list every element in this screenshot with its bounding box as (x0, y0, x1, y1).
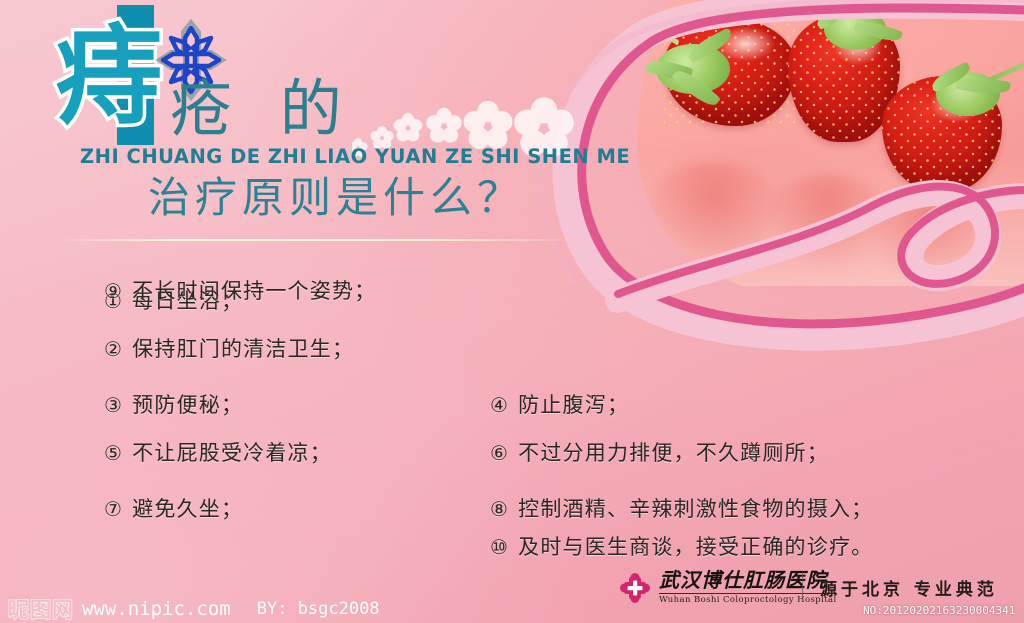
list-item-number: ③ (104, 393, 123, 417)
page-subtitle: 治疗原则是什么？ (148, 172, 524, 224)
list-item-number: ⑥ (490, 441, 509, 465)
strawberry-reflection (862, 190, 992, 280)
list-item: ⑤不让屁股受冷着凉； (104, 437, 332, 467)
medical-cross-icon (620, 573, 650, 603)
list-item: ④防止腹泻； (490, 389, 629, 419)
list-item: ⑨不长时间保持一个姿势； (104, 275, 376, 305)
advice-list: ①每日坐浴；②保持肛门的清洁卫生；③预防便秘；④防止腹泻；⑤不让屁股受冷着凉；⑥… (0, 275, 1024, 560)
list-item-text: 不过分用力排便，不久蹲厕所； (518, 437, 829, 467)
list-item: ⑧控制酒精、辛辣刺激性食物的摄入； (490, 493, 873, 523)
list-item: ③预防便秘； (104, 389, 243, 419)
poster-canvas: 痔 疮 的 (0, 0, 1024, 623)
list-item-number: ⑧ (490, 497, 509, 521)
list-item-number: ⑤ (104, 441, 123, 465)
page-title-character: 痔 (46, 19, 172, 139)
hospital-slogan: 源于北京 专业典范 (820, 575, 998, 600)
list-item: ⑦避免久坐； (104, 493, 243, 523)
list-item-text: 及时与医生商谈，接受正确的诊疗。 (518, 531, 873, 561)
list-item-number: ④ (490, 393, 509, 417)
strawberry-right (882, 76, 1002, 192)
strawberry-left (664, 18, 796, 126)
watermark-site-url: www.nipic.com (82, 598, 231, 620)
list-item: ②保持肛门的清洁卫生； (104, 333, 354, 363)
list-item-text: 预防便秘； (132, 389, 243, 419)
hospital-name-en: Wuhan Boshi Coloproctology Hospital (659, 593, 837, 605)
watermark-site-cn: 昵图网 (8, 594, 74, 623)
footer-divider (802, 572, 803, 598)
hospital-name-cn: 武汉博仕肛肠医院 (659, 570, 837, 591)
list-item-text: 不长时间保持一个姿势； (132, 275, 376, 305)
hospital-logo: 武汉博仕肛肠医院 Wuhan Boshi Coloproctology Hosp… (620, 570, 837, 605)
page-title-character-2: 疮 的 (170, 78, 356, 140)
list-item: ⑩及时与医生商谈，接受正确的诊疗。 (490, 531, 873, 561)
list-item-text: 控制酒精、辛辣刺激性食物的摄入； (518, 493, 873, 523)
header-divider (58, 239, 578, 241)
list-item-text: 不让屁股受冷着凉； (132, 437, 332, 467)
title-pinyin: ZHI CHUANG DE ZHI LIAO YUAN ZE SHI SHEN … (80, 145, 630, 168)
list-item-number: ⑨ (104, 279, 123, 303)
watermark-author: BY: bsgc2008 (257, 599, 380, 619)
list-item: ⑥不过分用力排便，不久蹲厕所； (490, 437, 829, 467)
serial-number: NO:20120202163230004341 (863, 604, 1015, 617)
strawberry-photo (592, 0, 1024, 286)
list-item-number: ⑩ (490, 535, 509, 559)
list-item-number: ⑦ (104, 497, 123, 521)
nipic-watermark: 昵图网 www.nipic.com BY: bsgc2008 (8, 594, 380, 623)
list-item-number: ② (104, 337, 123, 361)
list-item-text: 避免久坐； (132, 493, 243, 523)
list-item-text: 保持肛门的清洁卫生； (132, 333, 354, 363)
berry-stem (989, 43, 1024, 83)
list-item-text: 防止腹泻； (518, 389, 629, 419)
